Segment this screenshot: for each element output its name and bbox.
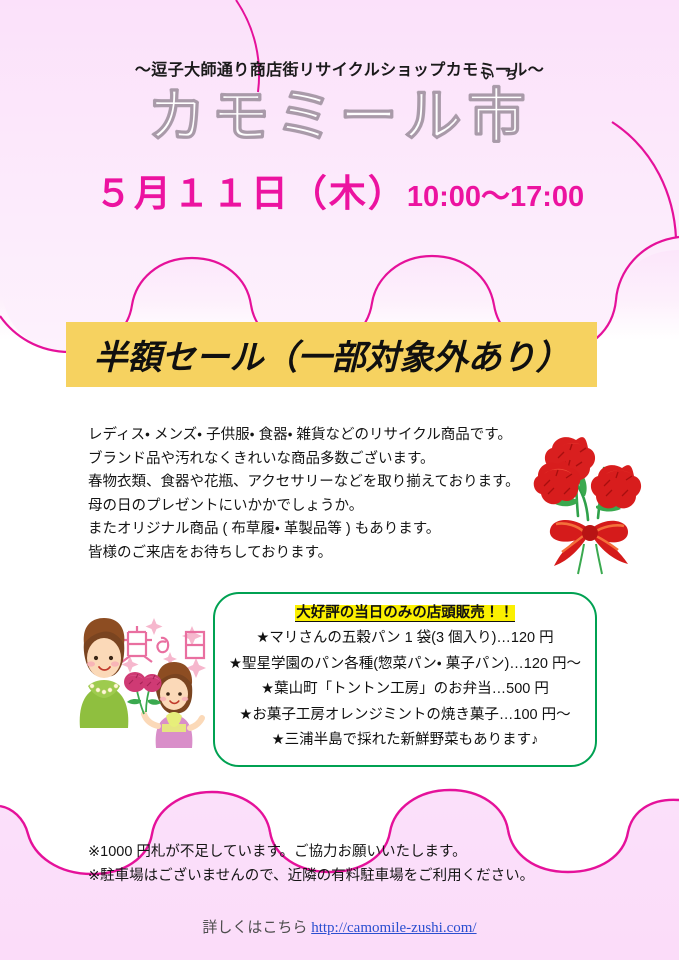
sale-banner-text: 半額セール（一部対象外あり） (94, 330, 570, 379)
body-line: 皆様のご来店をお待ちしております。 (88, 542, 558, 566)
note-line: ※1000 円札が不足しています。ご協力お願いいたします。 (88, 840, 608, 864)
page-title: カモミール市 いち (147, 84, 531, 150)
special-sale-item: ★三浦半島で採れた新鮮野菜もあります♪ (215, 728, 595, 754)
shop-subtitle: 〜逗子大師通り商店街リサイクルショップカモミール〜 (0, 56, 679, 80)
event-time: 10:00〜17:00 (407, 181, 584, 213)
event-date-line: ５月１１日（木）10:00〜17:00 (0, 163, 679, 217)
ribbon-bow (550, 520, 628, 574)
special-sale-item: ★マリさんの五穀パン 1 袋(3 個入り)…120 円 (215, 626, 595, 652)
special-sale-heading-text: 大好評の当日のみの店頭販売！！ (295, 605, 515, 622)
special-sale-item: ★葉山町「トントン工房」のお弁当…500 円 (215, 677, 595, 703)
body-line: ブランド品や汚れなくきれいな商品多数ございます。 (88, 448, 558, 472)
website-link[interactable]: http://camomile-zushi.com/ (311, 920, 476, 936)
footer-link-row: 詳しくはこちら http://camomile-zushi.com/ (0, 916, 679, 937)
carnation-right (591, 465, 641, 508)
footer-link-label: 詳しくはこちら (202, 920, 307, 936)
special-sale-item: ★お菓子工房オレンジミントの焼き菓子…100 円〜 (215, 703, 595, 729)
body-line: またオリジナル商品 ( 布草履・ 革製品等 ) もあります。 (88, 518, 558, 542)
event-date: ５月１１日（木） (95, 173, 407, 214)
body-line: レディス・ メンズ・ 子供服・ 食器・ 雑貨などのリサイクル商品です。 (88, 424, 558, 448)
poster-canvas: 〜逗子大師通り商店街リサイクルショップカモミール〜 カモミール市 いち ５月１１… (0, 0, 679, 960)
held-carnations (124, 672, 162, 714)
main-title-text: カモミール市 (147, 84, 531, 149)
body-line: 母の日のプレゼントにいかかでしょうか。 (88, 495, 558, 519)
special-sale-box: 大好評の当日のみの店頭販売！！ ★マリさんの五穀パン 1 袋(3 個入り)…12… (213, 592, 597, 767)
carnation-bouquet-icon (532, 424, 668, 579)
main-title-wrap: カモミール市 いち (0, 84, 679, 154)
special-sale-item: ★聖星学園のパン各種(惣菜パン・ 菓子パン)…120 円〜 (215, 652, 595, 678)
title-furigana: いち (481, 68, 527, 81)
sale-banner: 半額セール（一部対象外あり） (66, 322, 597, 387)
special-sale-heading: 大好評の当日のみの店頭販売！！ (215, 603, 595, 623)
body-line: 春物衣類、食器や花瓶、アクセサリーなどを取り揃えております。 (88, 471, 558, 495)
mothers-day-caption (122, 626, 204, 662)
mothers-day-icon (78, 600, 228, 765)
body-description: レディス・ メンズ・ 子供服・ 食器・ 雑貨などのリサイクル商品です。 ブランド… (88, 424, 558, 565)
mother-figure (80, 618, 129, 728)
footer-notes: ※1000 円札が不足しています。ご協力お願いいたします。 ※駐車場はございませ… (88, 840, 608, 888)
note-line: ※駐車場はございませんので、近隣の有料駐車場をご利用ください。 (88, 864, 608, 888)
